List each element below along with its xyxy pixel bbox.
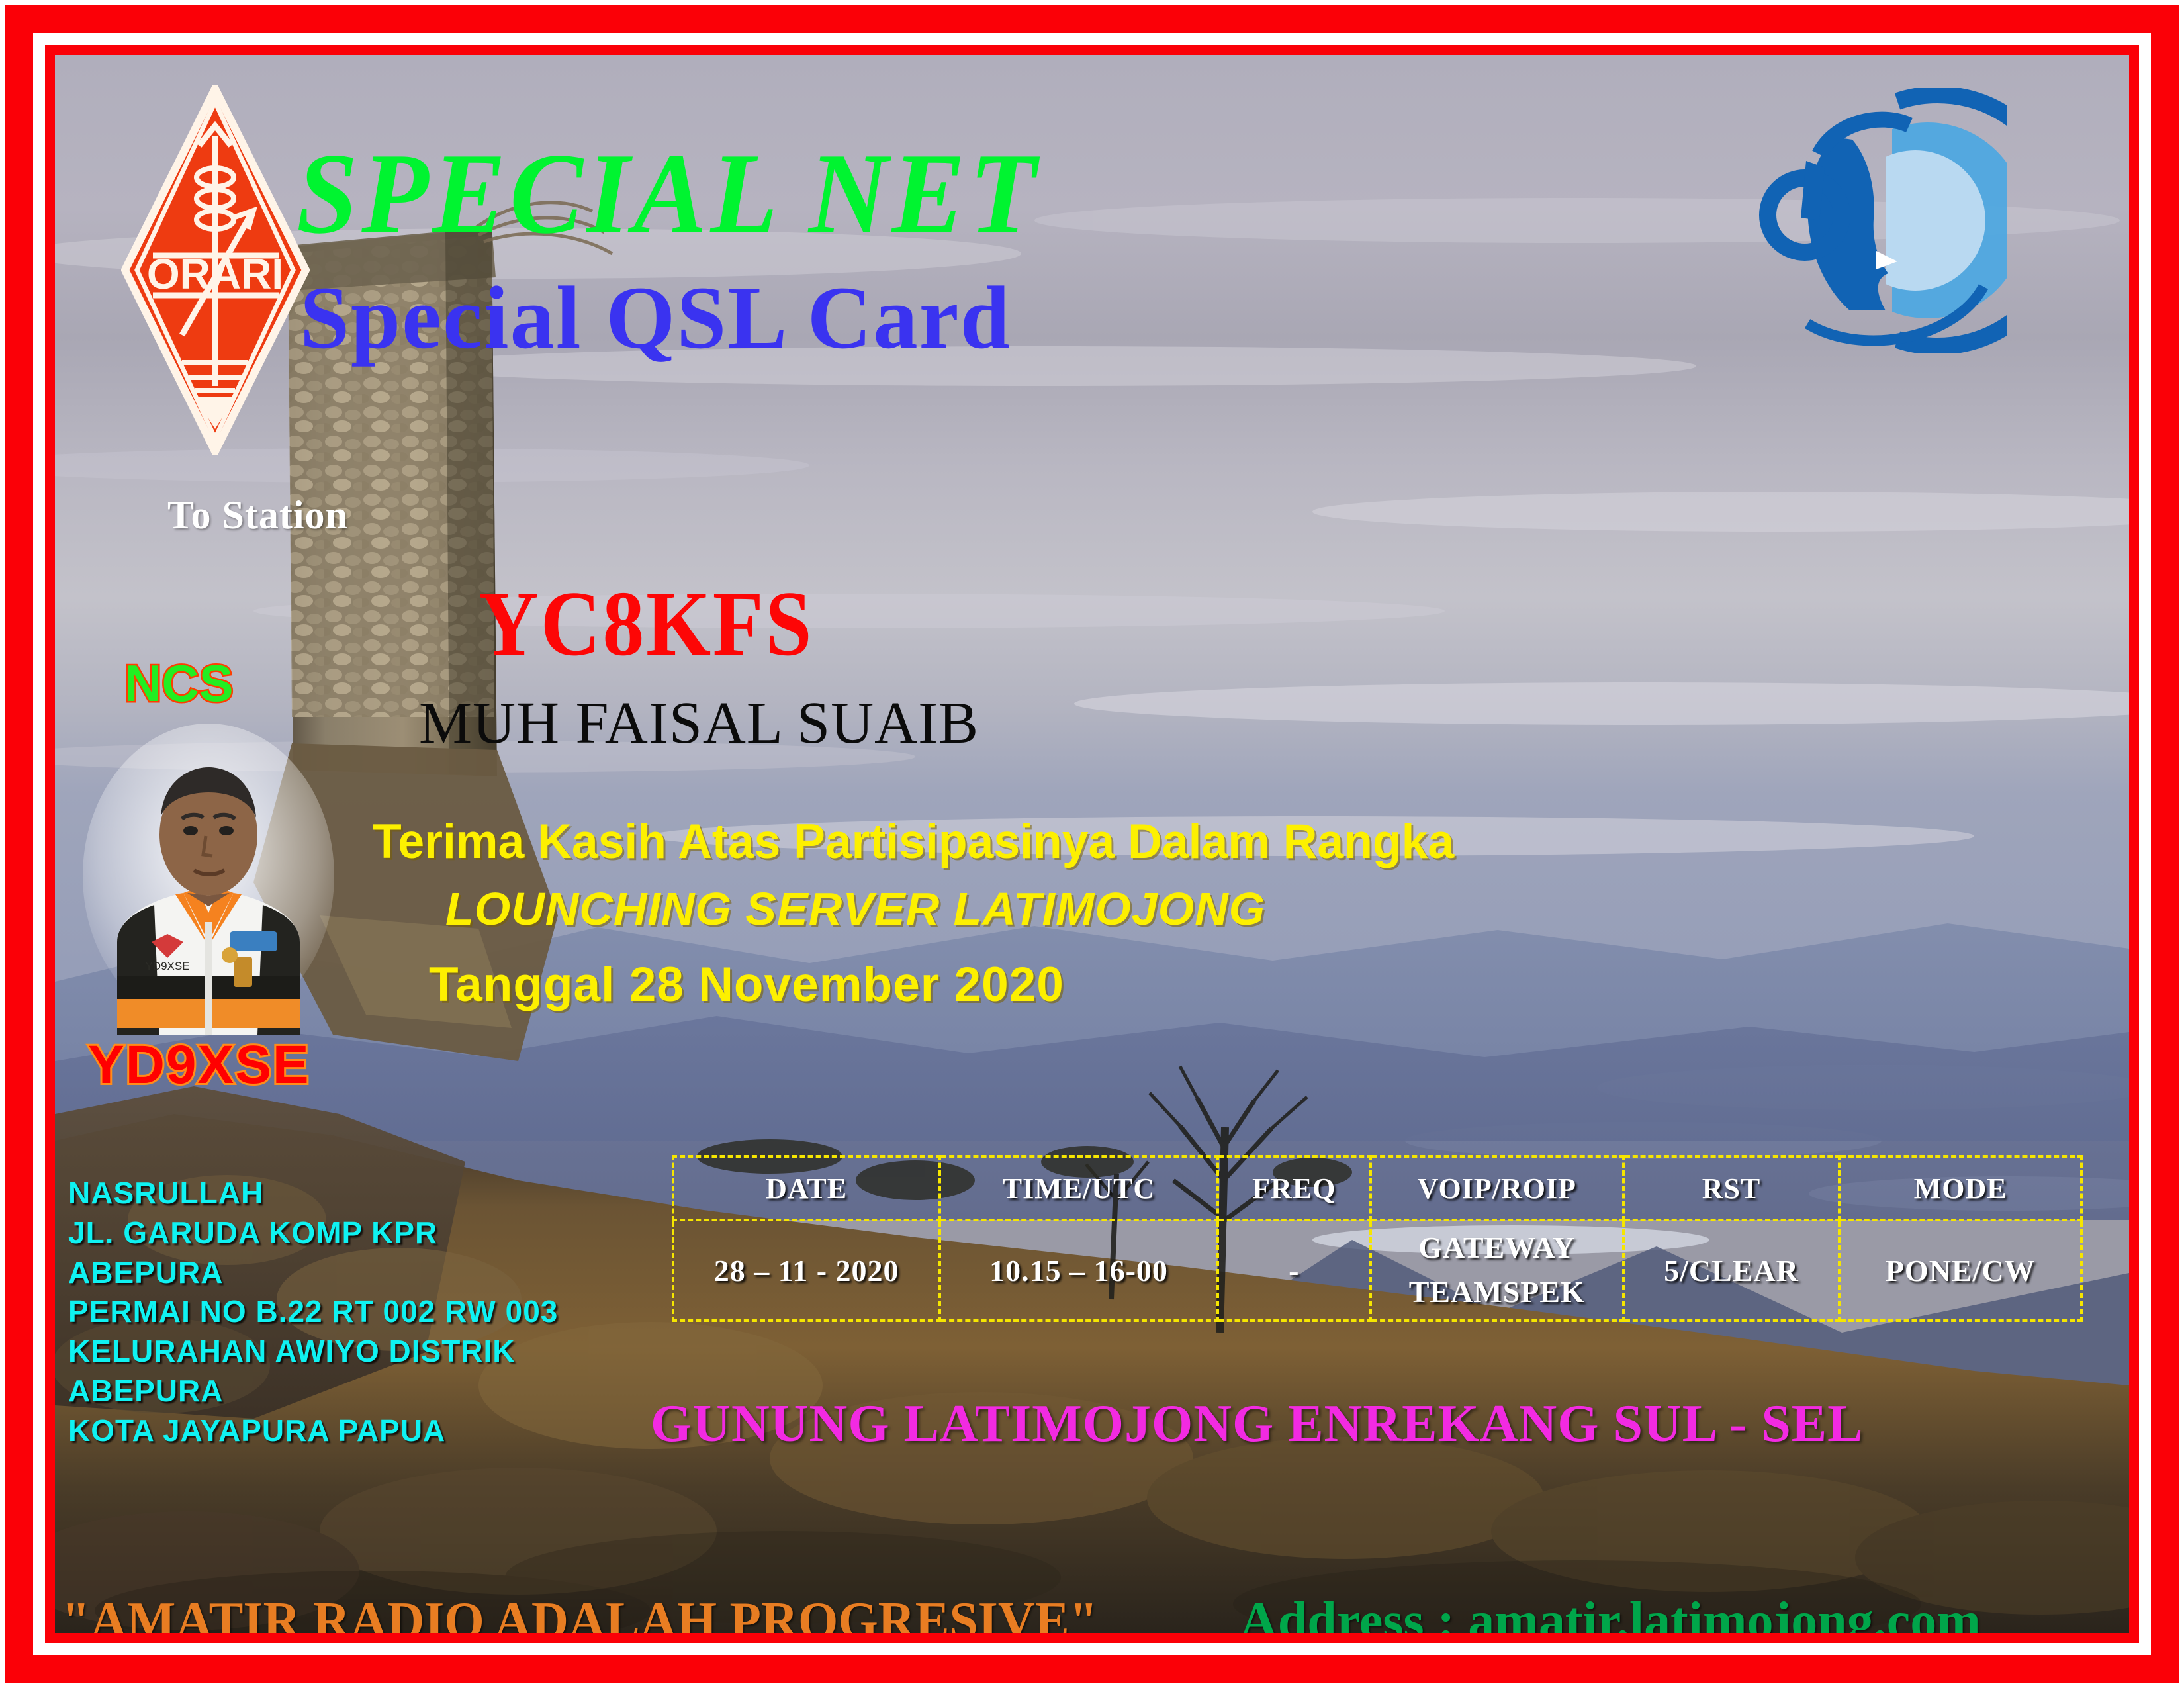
orari-wordmark: ORARI (147, 250, 283, 298)
address-line: KOTA JAYAPURA PAPUA (68, 1411, 558, 1451)
operator-photo: YD9XSE (83, 724, 334, 1035)
station-callsign: YC8KFS (478, 578, 813, 671)
table-row: 28 – 11 - 2020 10.15 – 16-00 - GATEWAY T… (673, 1220, 2081, 1321)
header-rst: RST (1623, 1156, 1840, 1220)
address-line: ABEPURA (68, 1372, 558, 1411)
header-mode: MODE (1839, 1156, 2081, 1220)
page-subtitle: Special QSL Card (300, 273, 1011, 363)
ncs-callsign: YD9XSE (88, 1038, 310, 1092)
svg-text:YD9XSE: YD9XSE (145, 960, 189, 972)
operator-name: MUH FAISAL SUAIB (419, 694, 979, 753)
cell-voip-roip: GATEWAY TEAMSPEK (1371, 1220, 1623, 1321)
thanks-line-3: Tanggal 28 November 2020 (429, 961, 1064, 1009)
orari-diamond-icon: ORARI (121, 85, 310, 455)
qso-log-table: DATE TIME/UTC FREQ VOIP/ROIP RST MODE 28… (672, 1155, 2083, 1322)
footer-slogan: "AMATIR RADIO ADALAH PROGRESIVE" (62, 1595, 1098, 1633)
sender-address-block: NASRULLAH JL. GARUDA KOMP KPR ABEPURA PE… (68, 1174, 558, 1451)
orari-logo: ORARI (121, 85, 310, 455)
cell-freq: - (1218, 1220, 1371, 1321)
address-line: JL. GARUDA KOMP KPR (68, 1213, 558, 1253)
qsl-card: ORARI (0, 0, 2184, 1688)
header-voip-roip: VOIP/ROIP (1371, 1156, 1623, 1220)
background-photograph: ORARI (55, 55, 2129, 1633)
table-header-row: DATE TIME/UTC FREQ VOIP/ROIP RST MODE (673, 1156, 2081, 1220)
page-title: SPECIAL NET (296, 136, 1040, 252)
cell-voip-roip-line1: GATEWAY (1372, 1226, 1622, 1270)
cell-mode: PONE/CW (1839, 1220, 2081, 1321)
cell-voip-roip-line2: TEAMSPEK (1372, 1270, 1622, 1315)
cell-rst: 5/CLEAR (1623, 1220, 1840, 1321)
location-line: GUNUNG LATIMOJONG ENREKANG SUL - SEL (651, 1397, 1864, 1450)
address-line: KELURAHAN AWIYO DISTRIK (68, 1332, 558, 1372)
cell-time-utc: 10.15 – 16-00 (940, 1220, 1217, 1321)
ncs-label: NCS (124, 657, 234, 709)
header-time-utc: TIME/UTC (940, 1156, 1217, 1220)
address-line: ABEPURA (68, 1253, 558, 1293)
address-line: NASRULLAH (68, 1174, 558, 1213)
address-line: PERMAI NO B.22 RT 002 RW 003 (68, 1292, 558, 1332)
voip-headset-logo (1756, 88, 2007, 353)
operator-portrait: YD9XSE (83, 724, 334, 1035)
footer-web-address: Address : amatir.latimojong.com (1240, 1595, 1981, 1633)
thanks-line-2: LOUNCHING SERVER LATIMOJONG (445, 886, 1265, 932)
to-station-label: To Station (167, 495, 348, 535)
thanks-line-1: Terima Kasih Atas Partisipasinya Dalam R… (373, 818, 1454, 866)
header-freq: FREQ (1218, 1156, 1371, 1220)
headset-profile-icon (1756, 88, 2007, 353)
header-date: DATE (673, 1156, 940, 1220)
cell-date: 28 – 11 - 2020 (673, 1220, 940, 1321)
